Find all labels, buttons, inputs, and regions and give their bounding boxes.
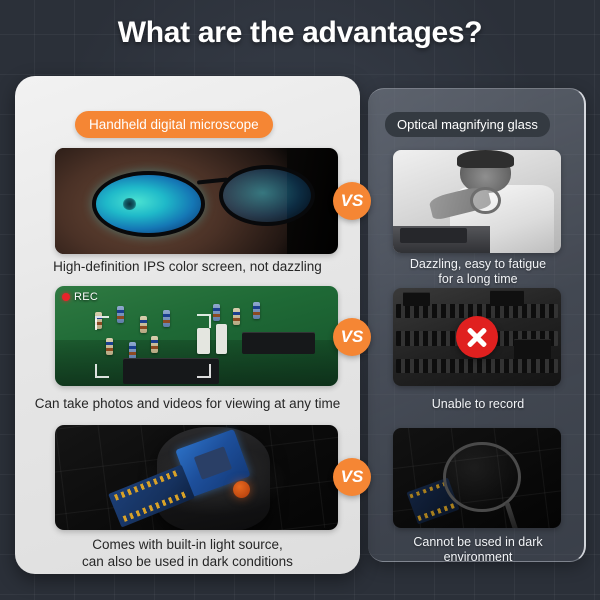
right-image-row-1 [393,288,561,386]
resistor [213,304,220,321]
man-using-magnifier-photo [393,150,561,253]
right-image-row-2 [393,428,561,528]
vs-badge-row-0: VS [333,182,371,220]
x-mark-icon [456,316,498,358]
eyeglass-lens-right [219,165,315,226]
left-caption-row-1: Can take photos and videos for viewing a… [15,395,360,412]
right-image-row-0 [393,150,561,253]
eyeglasses-reflecting-screen-photo [55,148,338,254]
resistor [151,336,158,353]
ic-chip [403,292,430,306]
caption-line: Can take photos and videos for viewing a… [15,395,360,412]
caption-line: can also be used in dark conditions [15,553,360,570]
component-row [396,359,557,374]
capacitor [216,324,227,354]
eyeglass-lens-left [92,171,205,237]
resistor [129,342,136,359]
board-on-desk [400,228,467,242]
caption-line: for a long time [378,272,578,287]
right-caption-row-2: Cannot be used in dark environment [378,535,578,565]
rec-indicator: REC [62,291,98,303]
magnifier-lens-shape [470,187,500,214]
resistor [233,308,240,325]
handheld-microscope-device-photo [55,425,338,530]
page-title: What are the advantages? [0,16,600,50]
caption-line: environment [378,550,578,565]
dark-circuit-board-photo [393,288,561,386]
ic-chip [514,339,551,359]
caption-line: Dazzling, easy to fatigue [378,257,578,272]
left-image-row-1: REC [55,286,338,386]
caption-line: Cannot be used in dark [378,535,578,550]
vs-badge-row-1: VS [333,318,371,356]
ic-chip [490,290,524,306]
caption-line: High-definition IPS color screen, not da… [15,258,360,275]
resistor [253,302,260,319]
left-caption-row-0: High-definition IPS color screen, not da… [15,258,360,275]
focus-bracket [197,314,211,328]
focus-bracket [197,364,211,378]
device-screen-inner [194,446,233,480]
rec-label: REC [74,291,98,303]
magnifier-lens-shape [443,442,520,512]
rec-dot-icon [62,293,70,301]
right-caption-row-1: Unable to record [378,397,578,412]
iris-shape [123,198,136,210]
vs-badge-row-2: VS [333,458,371,496]
green-circuit-board-photo: REC [55,286,338,386]
focus-bracket [95,316,109,330]
focus-bracket [95,364,109,378]
product-badge-handheld-microscope: Handheld digital microscope [75,111,273,138]
resistor [163,310,170,327]
product-badge-optical-magnifier: Optical magnifying glass [385,112,550,137]
ic-chip [242,332,316,354]
left-image-row-0 [55,148,338,254]
caption-line: Unable to record [378,397,578,412]
resistor [106,338,113,355]
capacitor [197,328,210,354]
device-light-button [233,481,250,498]
resistor [140,316,147,333]
magnifier-in-darkness-photo [393,428,561,528]
right-caption-row-0: Dazzling, easy to fatigue for a long tim… [378,257,578,287]
resistor [117,306,124,323]
left-caption-row-2: Comes with built-in light source, can al… [15,536,360,570]
caption-line: Comes with built-in light source, [15,536,360,553]
left-image-row-2 [55,425,338,530]
person-hair [457,150,514,168]
